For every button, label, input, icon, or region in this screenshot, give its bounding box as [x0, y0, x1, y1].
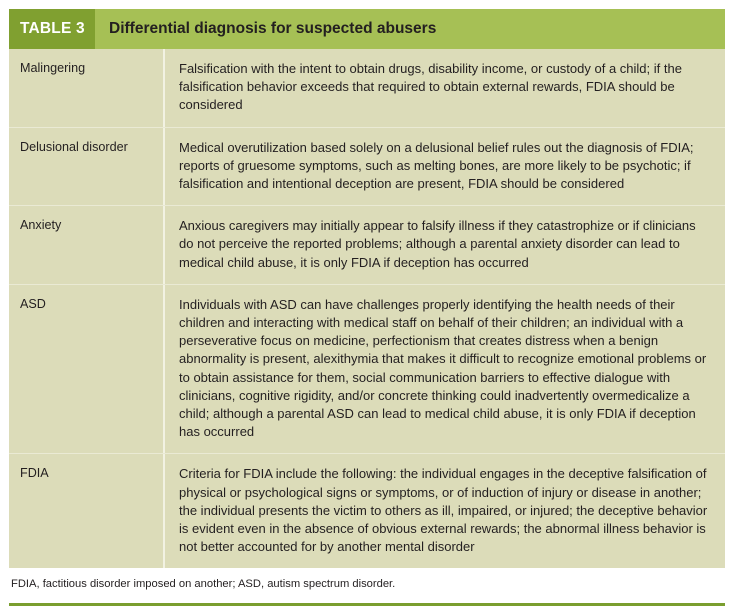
- table-title: Differential diagnosis for suspected abu…: [95, 9, 725, 49]
- row-term: ASD: [9, 285, 165, 454]
- row-description: Individuals with ASD can have challenges…: [165, 285, 725, 454]
- table-header: TABLE 3 Differential diagnosis for suspe…: [9, 9, 725, 49]
- table-body: Malingering Falsification with the inten…: [9, 49, 725, 568]
- row-term: Malingering: [9, 49, 165, 127]
- row-term: Anxiety: [9, 206, 165, 284]
- table-row: Malingering Falsification with the inten…: [9, 49, 725, 128]
- table-number-label: TABLE 3: [9, 9, 95, 49]
- table-row: Delusional disorder Medical overutilizat…: [9, 128, 725, 207]
- row-description: Anxious caregivers may initially appear …: [165, 206, 725, 284]
- table-row: Anxiety Anxious caregivers may initially…: [9, 206, 725, 285]
- table-page: TABLE 3 Differential diagnosis for suspe…: [0, 0, 733, 600]
- table-footnote: FDIA, factitious disorder imposed on ano…: [9, 577, 725, 592]
- row-description: Falsification with the intent to obtain …: [165, 49, 725, 127]
- row-term: Delusional disorder: [9, 128, 165, 206]
- table-row: ASD Individuals with ASD can have challe…: [9, 285, 725, 455]
- table-3: TABLE 3 Differential diagnosis for suspe…: [9, 9, 725, 606]
- row-description: Medical overutilization based solely on …: [165, 128, 725, 206]
- row-description: Criteria for FDIA include the following:…: [165, 454, 725, 568]
- row-term: FDIA: [9, 454, 165, 568]
- table-row: FDIA Criteria for FDIA include the follo…: [9, 454, 725, 568]
